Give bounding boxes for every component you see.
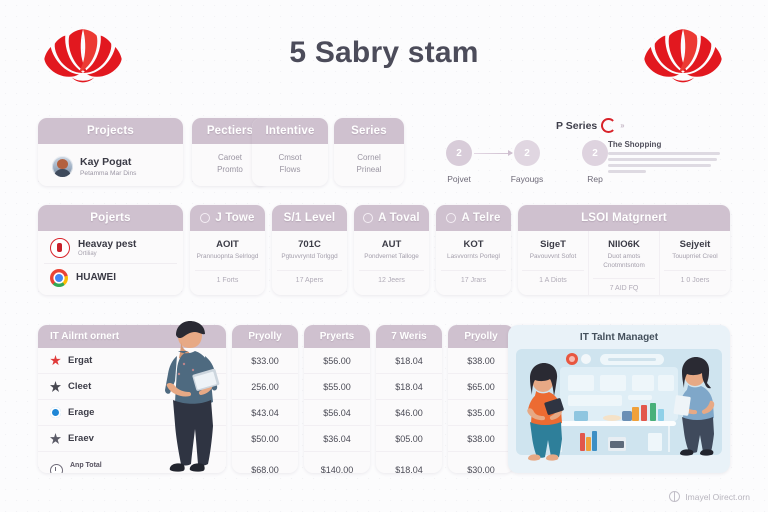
note-line — [608, 170, 646, 173]
column-header: Pryolly — [448, 325, 514, 348]
table-cell: $56.00 — [304, 348, 370, 373]
item-name: HUAWEI — [76, 272, 116, 284]
row-label: Ergat — [68, 355, 92, 366]
card-pojerts[interactable]: Pojerts Heavay pest Ortiliay HUAWEI — [38, 205, 183, 295]
table-cell: 256.00 — [232, 373, 298, 399]
metric-value: Sejyeit — [664, 239, 726, 250]
card-line-2: Prineal — [342, 164, 396, 176]
star-grey-icon — [50, 433, 61, 444]
metric-value: 701C — [277, 239, 342, 250]
flow-label-2: Fayougs — [499, 174, 555, 184]
chevrons-icon: ›› — [620, 121, 623, 130]
metric-value: KOT — [441, 239, 506, 250]
note-line — [608, 152, 720, 155]
avatar — [52, 156, 73, 177]
column-header: Pryolly — [232, 325, 298, 348]
card-lsoi-management[interactable]: LSOI Matgrnert SigeT Pavouvvnt Sofot 1 A… — [518, 205, 730, 295]
pricing-table: IT Ailrnt ornert Ergat Cleet Erage Eraev — [38, 325, 493, 473]
metric-subtitle: Duot amots Cnotmntsntom — [593, 253, 655, 270]
red-ring-icon — [50, 238, 70, 258]
footer-watermark: Imayel Oirect.orn — [669, 491, 750, 502]
metric-subtitle: Touuprriet Creol — [664, 253, 726, 262]
total-label: Anp Total — [70, 462, 102, 469]
column-header: 7 Weris — [376, 325, 442, 348]
office-people-illustration — [508, 345, 730, 463]
note-line — [608, 164, 711, 167]
metric-footer: 17 Apers — [277, 270, 342, 284]
card-projects[interactable]: Projects Kay Pogat Petamma Mar Dins — [38, 118, 183, 186]
table-cell: $05.00 — [376, 425, 442, 451]
card-header-label: A Telre — [461, 212, 500, 224]
metric-subtitle: Prannuopnta Selrlogd — [195, 253, 260, 262]
note-block: The Shopping — [608, 140, 720, 176]
table-cell: $35.00 — [448, 399, 514, 425]
chrome-circle-icon — [50, 269, 68, 287]
table-column-pryolly-2: Pryolly $38.00 $65.00 $35.00 $38.00 $30.… — [448, 325, 514, 473]
flow-node-2[interactable]: 2 — [514, 140, 540, 166]
card-line-1: Cornel — [342, 152, 396, 164]
table-total-cell: $30.00 — [448, 451, 514, 473]
table-cell: $65.00 — [448, 373, 514, 399]
table-total-cell: $140.00 — [304, 451, 370, 473]
note-line — [608, 158, 717, 161]
standing-person-illustration — [148, 318, 226, 476]
metric-value: SigeT — [522, 239, 584, 250]
table-cell: $46.00 — [376, 399, 442, 425]
metric-cell: Sejyeit Touuprriet Creol 1 0 Joers — [659, 231, 730, 295]
card-metric-j-towe[interactable]: J Towe AOIT Prannuopnta Selrlogd 1 Forts — [190, 205, 265, 295]
metric-subtitle: Pgtuvvryntd Torlggd — [277, 253, 342, 262]
star-red-icon — [50, 355, 61, 366]
list-item[interactable]: HUAWEI — [44, 263, 177, 292]
flow-node-3[interactable]: 2 — [582, 140, 608, 166]
table-total-cell: $18.04 — [376, 451, 442, 473]
clock-icon — [50, 464, 63, 474]
card-metric-a-toval[interactable]: A Toval AUT Pondvernet Talloge 12 Jeers — [354, 205, 429, 295]
card-header: Projects — [38, 118, 183, 144]
metric-cell: SigeT Pavouvvnt Sofot 1 A Diots — [518, 231, 588, 295]
table-cell: $38.00 — [448, 425, 514, 451]
illustration-panel: IT Talnt Managet — [508, 325, 730, 473]
globe-icon — [669, 491, 680, 502]
star-dark-icon — [50, 381, 61, 392]
table-cell: $55.00 — [304, 373, 370, 399]
card-header: LSOI Matgrnert — [518, 205, 730, 231]
person-subtitle: Petamma Mar Dins — [80, 170, 136, 178]
loading-ring-icon — [601, 118, 616, 133]
card-metric-s1-level[interactable]: S/1 Level 701C Pgtuvvryntd Torlggd 17 Ap… — [272, 205, 347, 295]
card-header-label: A Toval — [378, 212, 420, 224]
metric-value: AUT — [359, 239, 424, 250]
row-label: Eraev — [68, 433, 94, 444]
metric-footer: 1 Forts — [195, 270, 260, 284]
table-cell: $50.00 — [232, 425, 298, 451]
card-series[interactable]: Series Cornel Prineal — [334, 118, 404, 186]
card-header-label: J Towe — [215, 212, 254, 224]
metric-value: AOIT — [195, 239, 260, 250]
metric-footer: 7 AID FQ — [593, 278, 655, 292]
flow-node-1[interactable]: 2 — [446, 140, 472, 166]
table-column-pryolly-1: Pryolly $33.00 256.00 $43.04 $50.00 $68.… — [232, 325, 298, 473]
table-column-pryerts: Pryerts $56.00 $55.00 $56.04 $36.04 $140… — [304, 325, 370, 473]
watermark-text: Imayel Oirect.orn — [685, 492, 750, 502]
metric-footer: 1 A Diots — [522, 270, 584, 284]
card-intentive[interactable]: Intentive Cmsot Flows — [252, 118, 328, 186]
row-label: Erage — [68, 407, 94, 418]
table-column-7-weris: 7 Weris $18.04 $18.04 $46.00 $05.00 $18.… — [376, 325, 442, 473]
person-name: Kay Pogat — [80, 156, 136, 168]
card-header: A Telre — [436, 205, 511, 231]
illustration-title: IT Talnt Managet — [508, 325, 730, 345]
list-item[interactable]: Heavay pest Ortiliay — [44, 233, 177, 263]
card-metric-a-telre[interactable]: A Telre KOT Lasvvornts Portegl 17 Jrars — [436, 205, 511, 295]
table-cell: $38.00 — [448, 348, 514, 373]
p-series-label: P Series — [556, 120, 597, 132]
card-header: Pojerts — [38, 205, 183, 231]
card-header: Series — [334, 118, 404, 144]
card-header: J Towe — [190, 205, 265, 231]
metric-value: NIIO6K — [593, 239, 655, 250]
metric-footer: 17 Jrars — [441, 270, 506, 284]
table-cell: $43.04 — [232, 399, 298, 425]
table-cell: $56.04 — [304, 399, 370, 425]
table-cell: $18.04 — [376, 348, 442, 373]
metric-footer: 12 Jeers — [359, 270, 424, 284]
infographic-stage: 5 Sabry stam Projects Kay Pogat Petamma … — [0, 0, 768, 512]
row-label: Cleet — [68, 381, 91, 392]
process-flow: 2 2 2 Pojvet Fayougs Rep — [432, 140, 618, 192]
card-header: S/1 Level — [272, 205, 347, 231]
note-title: The Shopping — [608, 140, 720, 149]
card-header: Intentive — [252, 118, 328, 144]
table-total-cell: $68.00 — [232, 451, 298, 473]
flow-label-1: Pojvet — [431, 174, 487, 184]
column-header: Pryerts — [304, 325, 370, 348]
metric-subtitle: Pondvernet Talloge — [359, 253, 424, 262]
status-dot-icon — [446, 213, 456, 223]
table-cell: $36.04 — [304, 425, 370, 451]
card-line-1: Caroet — [200, 152, 260, 164]
flow-connector — [474, 153, 512, 155]
metric-footer: 1 0 Joers — [664, 270, 726, 284]
card-header: A Toval — [354, 205, 429, 231]
card-line-1: Cmsot — [260, 152, 320, 164]
status-dot-icon — [200, 213, 210, 223]
item-subtitle: Ortiliay — [78, 251, 136, 257]
table-cell: $33.00 — [232, 348, 298, 373]
p-series-heading: P Series ›› — [556, 118, 624, 133]
metric-subtitle: Pavouvvnt Sofot — [522, 253, 584, 262]
person-entry[interactable]: Kay Pogat Petamma Mar Dins — [46, 152, 175, 178]
status-dot-icon — [363, 213, 373, 223]
metric-cell: NIIO6K Duot amots Cnotmntsntom 7 AID FQ — [588, 231, 659, 295]
table-cell: $18.04 — [376, 373, 442, 399]
metric-subtitle: Lasvvornts Portegl — [441, 253, 506, 262]
circle-blue-icon — [50, 407, 61, 418]
card-line-2: Promto — [200, 164, 260, 176]
card-line-2: Flows — [260, 164, 320, 176]
page-title: 5 Sabry stam — [0, 36, 768, 70]
item-name: Heavay pest — [78, 239, 136, 251]
